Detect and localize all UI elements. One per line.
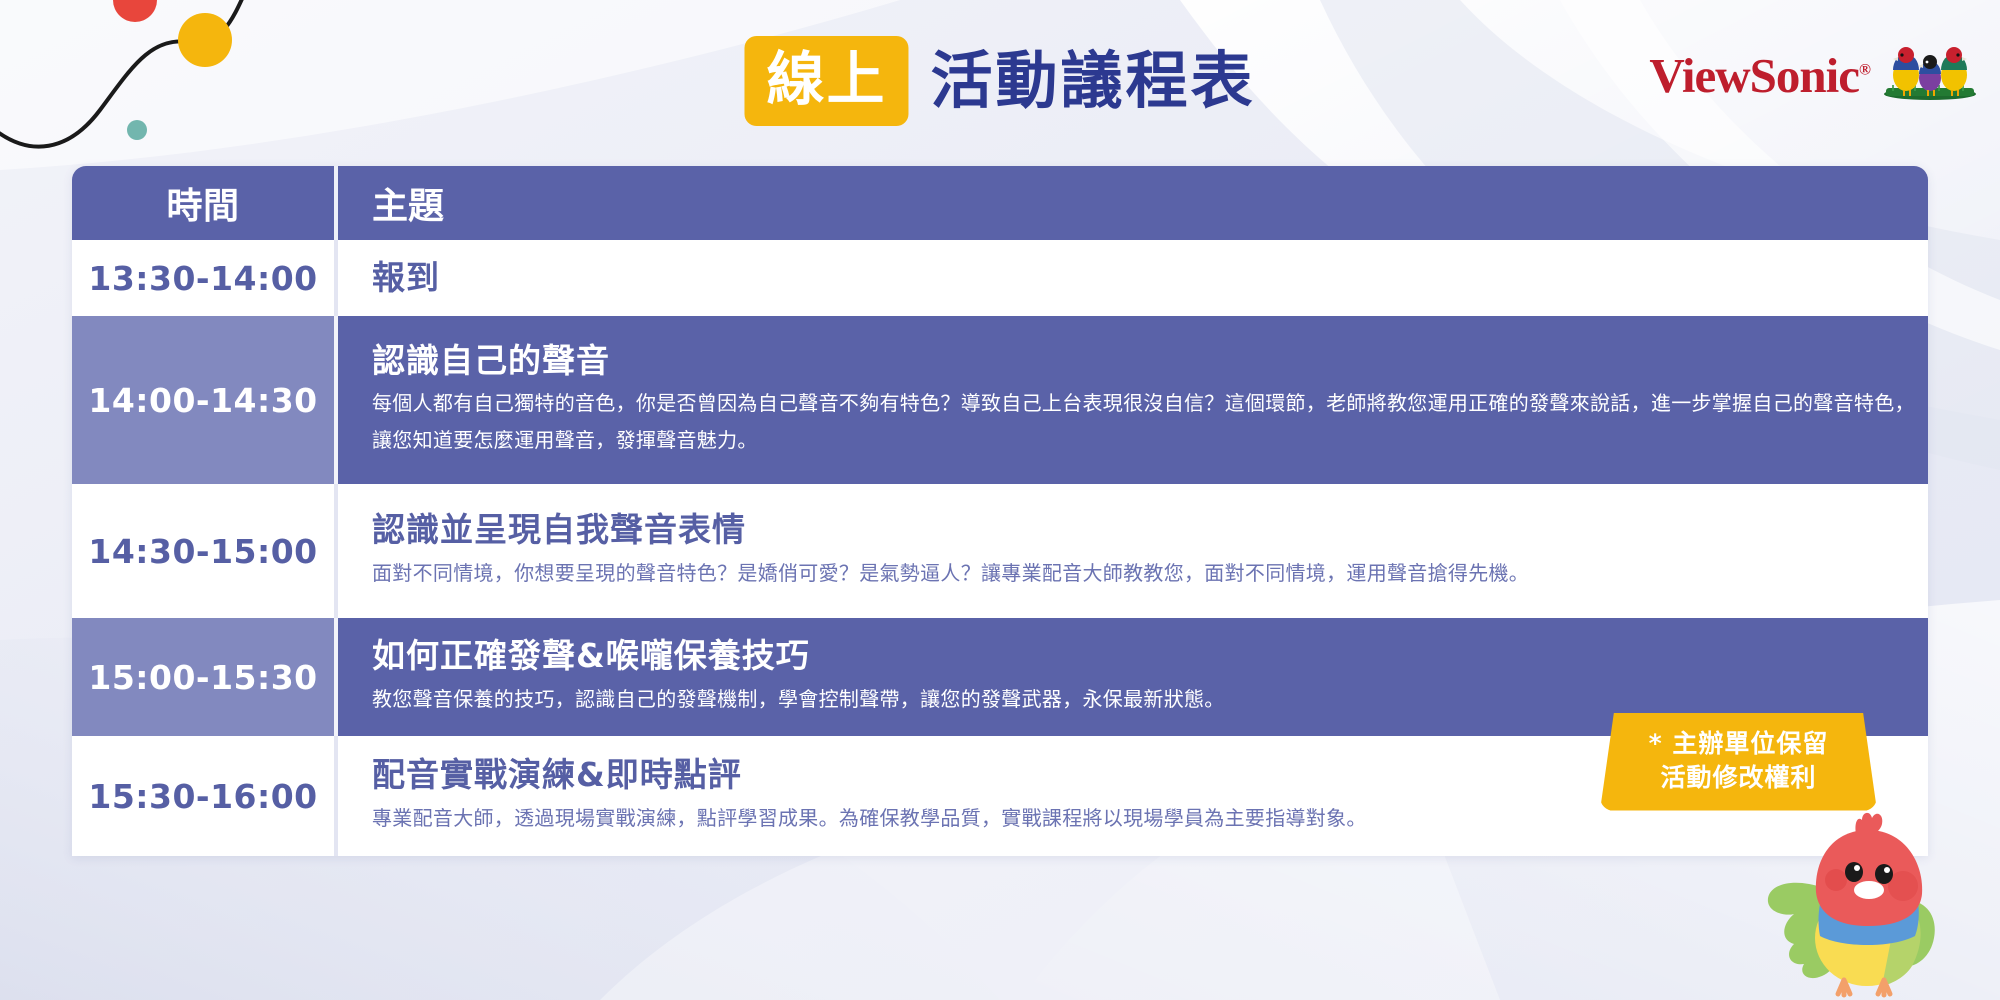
gouldian-finch-logo-icon [1880,38,1980,100]
row-topic: 認識並呈現自我聲音表情 面對不同情境，你想要呈現的聲音特色？是嬌俏可愛？是氣勢逼… [338,484,1928,618]
row-time: 14:30-15:00 [72,484,334,618]
row-title: 認識並呈現自我聲音表情 [372,510,1928,550]
row-time: 15:30-16:00 [72,736,334,856]
row-title: 如何正確發聲&喉嚨保養技巧 [372,636,1928,676]
table-row[interactable]: 13:30-14:00 報到 [72,240,1928,316]
page-title: 線上 活動議程表 [744,36,1255,126]
row-time: 13:30-14:00 [72,240,334,316]
disclaimer-line-1: * 主辦單位保留 [1606,727,1871,761]
viewsonic-logo: ViewSonic® [1649,38,1980,100]
row-time: 15:00-15:30 [72,618,334,736]
bird-mascot [1732,790,1982,1000]
column-header-time: 時間 [72,166,334,240]
row-title: 報到 [372,258,1928,298]
logo-wordmark: ViewSonic [1649,48,1859,103]
table-row[interactable]: 14:00-14:30 認識自己的聲音 每個人都有自己獨特的音色，你是否曾因為自… [72,316,1928,484]
row-topic: 報到 [338,240,1928,316]
table-row[interactable]: 14:30-15:00 認識並呈現自我聲音表情 面對不同情境，你想要呈現的聲音特… [72,484,1928,618]
viewsonic-logo-text: ViewSonic® [1649,51,1870,100]
row-topic: 認識自己的聲音 每個人都有自己獨特的音色，你是否曾因為自己聲音不夠有特色？導致自… [338,316,1928,484]
row-description: 教您聲音保養的技巧，認識自己的發聲機制，學會控制聲帶，讓您的發聲武器，永保最新狀… [372,681,1928,718]
page-title-text: 活動議程表 [931,50,1256,112]
row-title: 認識自己的聲音 [372,341,1928,381]
row-description: 每個人都有自己獨特的音色，你是否曾因為自己聲音不夠有特色？導致自己上台表現很沒自… [372,385,1928,459]
row-description: 面對不同情境，你想要呈現的聲音特色？是嬌俏可愛？是氣勢逼人？讓專業配音大師教教您… [372,555,1928,592]
row-time: 14:00-14:30 [72,316,334,484]
column-header-topic: 主題 [338,166,1928,240]
online-badge: 線上 [744,36,908,126]
trademark-symbol: ® [1859,62,1870,79]
table-header-row: 時間 主題 [72,166,1928,240]
page-header: 線上 活動議程表 ViewSonic® [0,0,2000,150]
